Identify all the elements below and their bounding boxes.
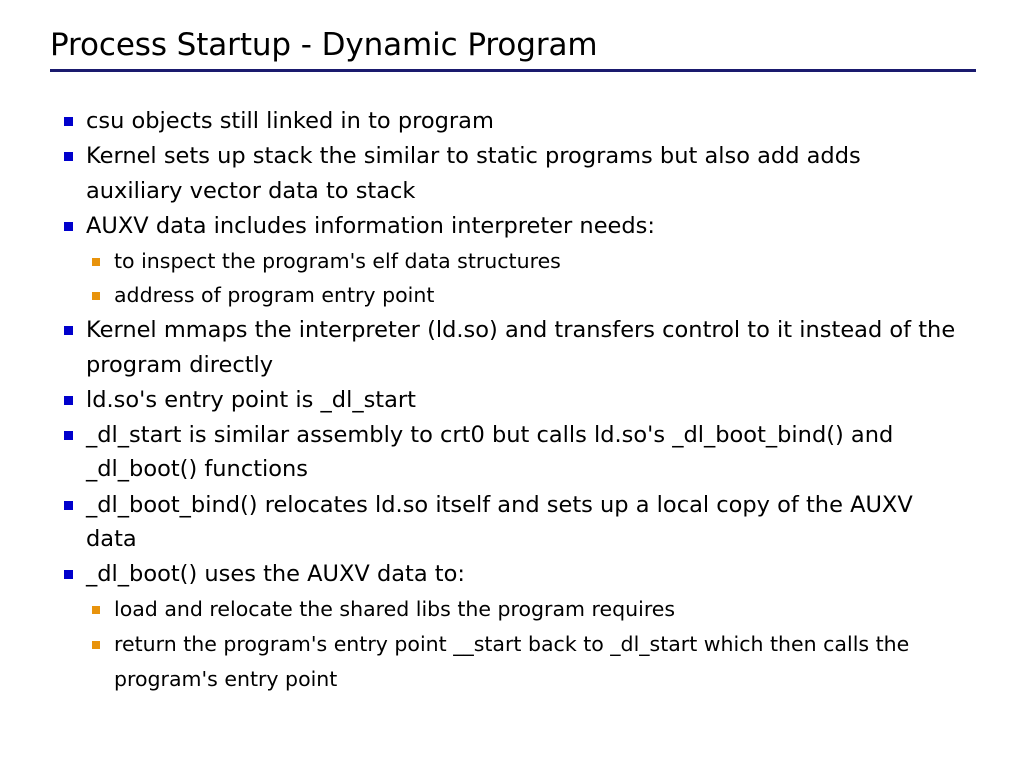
square-subbullet-icon xyxy=(92,606,100,614)
sub-bullet-item: address of program entry point xyxy=(62,278,962,313)
bullet-text: _dl_boot() uses the AUXV data to: xyxy=(86,557,962,592)
bullet-text: _dl_boot_bind() relocates ld.so itself a… xyxy=(86,488,962,557)
bullet-text: AUXV data includes information interpret… xyxy=(86,209,962,244)
bullet-item: AUXV data includes information interpret… xyxy=(62,209,962,244)
sub-bullet-item: load and relocate the shared libs the pr… xyxy=(62,592,962,627)
square-bullet-icon xyxy=(64,222,73,231)
bullet-text: Kernel mmaps the interpreter (ld.so) and… xyxy=(86,313,962,382)
square-bullet-icon xyxy=(64,152,73,161)
slide-body: csu objects still linked in to programKe… xyxy=(62,104,962,696)
bullet-list: csu objects still linked in to programKe… xyxy=(62,104,962,696)
bullet-text: ld.so's entry point is _dl_start xyxy=(86,383,962,418)
square-bullet-icon xyxy=(64,396,73,405)
square-subbullet-icon xyxy=(92,292,100,300)
bullet-text: csu objects still linked in to program xyxy=(86,104,962,139)
bullet-item: _dl_start is similar assembly to crt0 bu… xyxy=(62,418,962,487)
sub-bullet-item: return the program's entry point __start… xyxy=(62,627,962,696)
square-bullet-icon xyxy=(64,501,73,510)
bullet-item: Kernel sets up stack the similar to stat… xyxy=(62,139,962,208)
bullet-text: _dl_start is similar assembly to crt0 bu… xyxy=(86,418,962,487)
sub-bullet-list: load and relocate the shared libs the pr… xyxy=(62,592,962,696)
bullet-text: load and relocate the shared libs the pr… xyxy=(114,592,962,627)
square-bullet-icon xyxy=(64,431,73,440)
square-bullet-icon xyxy=(64,117,73,126)
title-underline-rule xyxy=(50,69,976,72)
bullet-text: address of program entry point xyxy=(114,278,962,313)
bullet-item: Kernel mmaps the interpreter (ld.so) and… xyxy=(62,313,962,382)
bullet-item: csu objects still linked in to program xyxy=(62,104,962,139)
square-bullet-icon xyxy=(64,570,73,579)
slide-title-block: Process Startup - Dynamic Program xyxy=(50,28,976,72)
sub-bullet-list: to inspect the program's elf data struct… xyxy=(62,244,962,313)
bullet-item: ld.so's entry point is _dl_start xyxy=(62,383,962,418)
slide-canvas: Process Startup - Dynamic Program csu ob… xyxy=(0,0,1024,768)
sub-bullet-item: to inspect the program's elf data struct… xyxy=(62,244,962,279)
square-subbullet-icon xyxy=(92,258,100,266)
bullet-text: Kernel sets up stack the similar to stat… xyxy=(86,139,962,208)
square-subbullet-icon xyxy=(92,641,100,649)
bullet-text: return the program's entry point __start… xyxy=(114,627,962,696)
bullet-item: _dl_boot() uses the AUXV data to: xyxy=(62,557,962,592)
bullet-item: _dl_boot_bind() relocates ld.so itself a… xyxy=(62,488,962,557)
bullet-text: to inspect the program's elf data struct… xyxy=(114,244,962,279)
page-title: Process Startup - Dynamic Program xyxy=(50,28,976,69)
square-bullet-icon xyxy=(64,326,73,335)
